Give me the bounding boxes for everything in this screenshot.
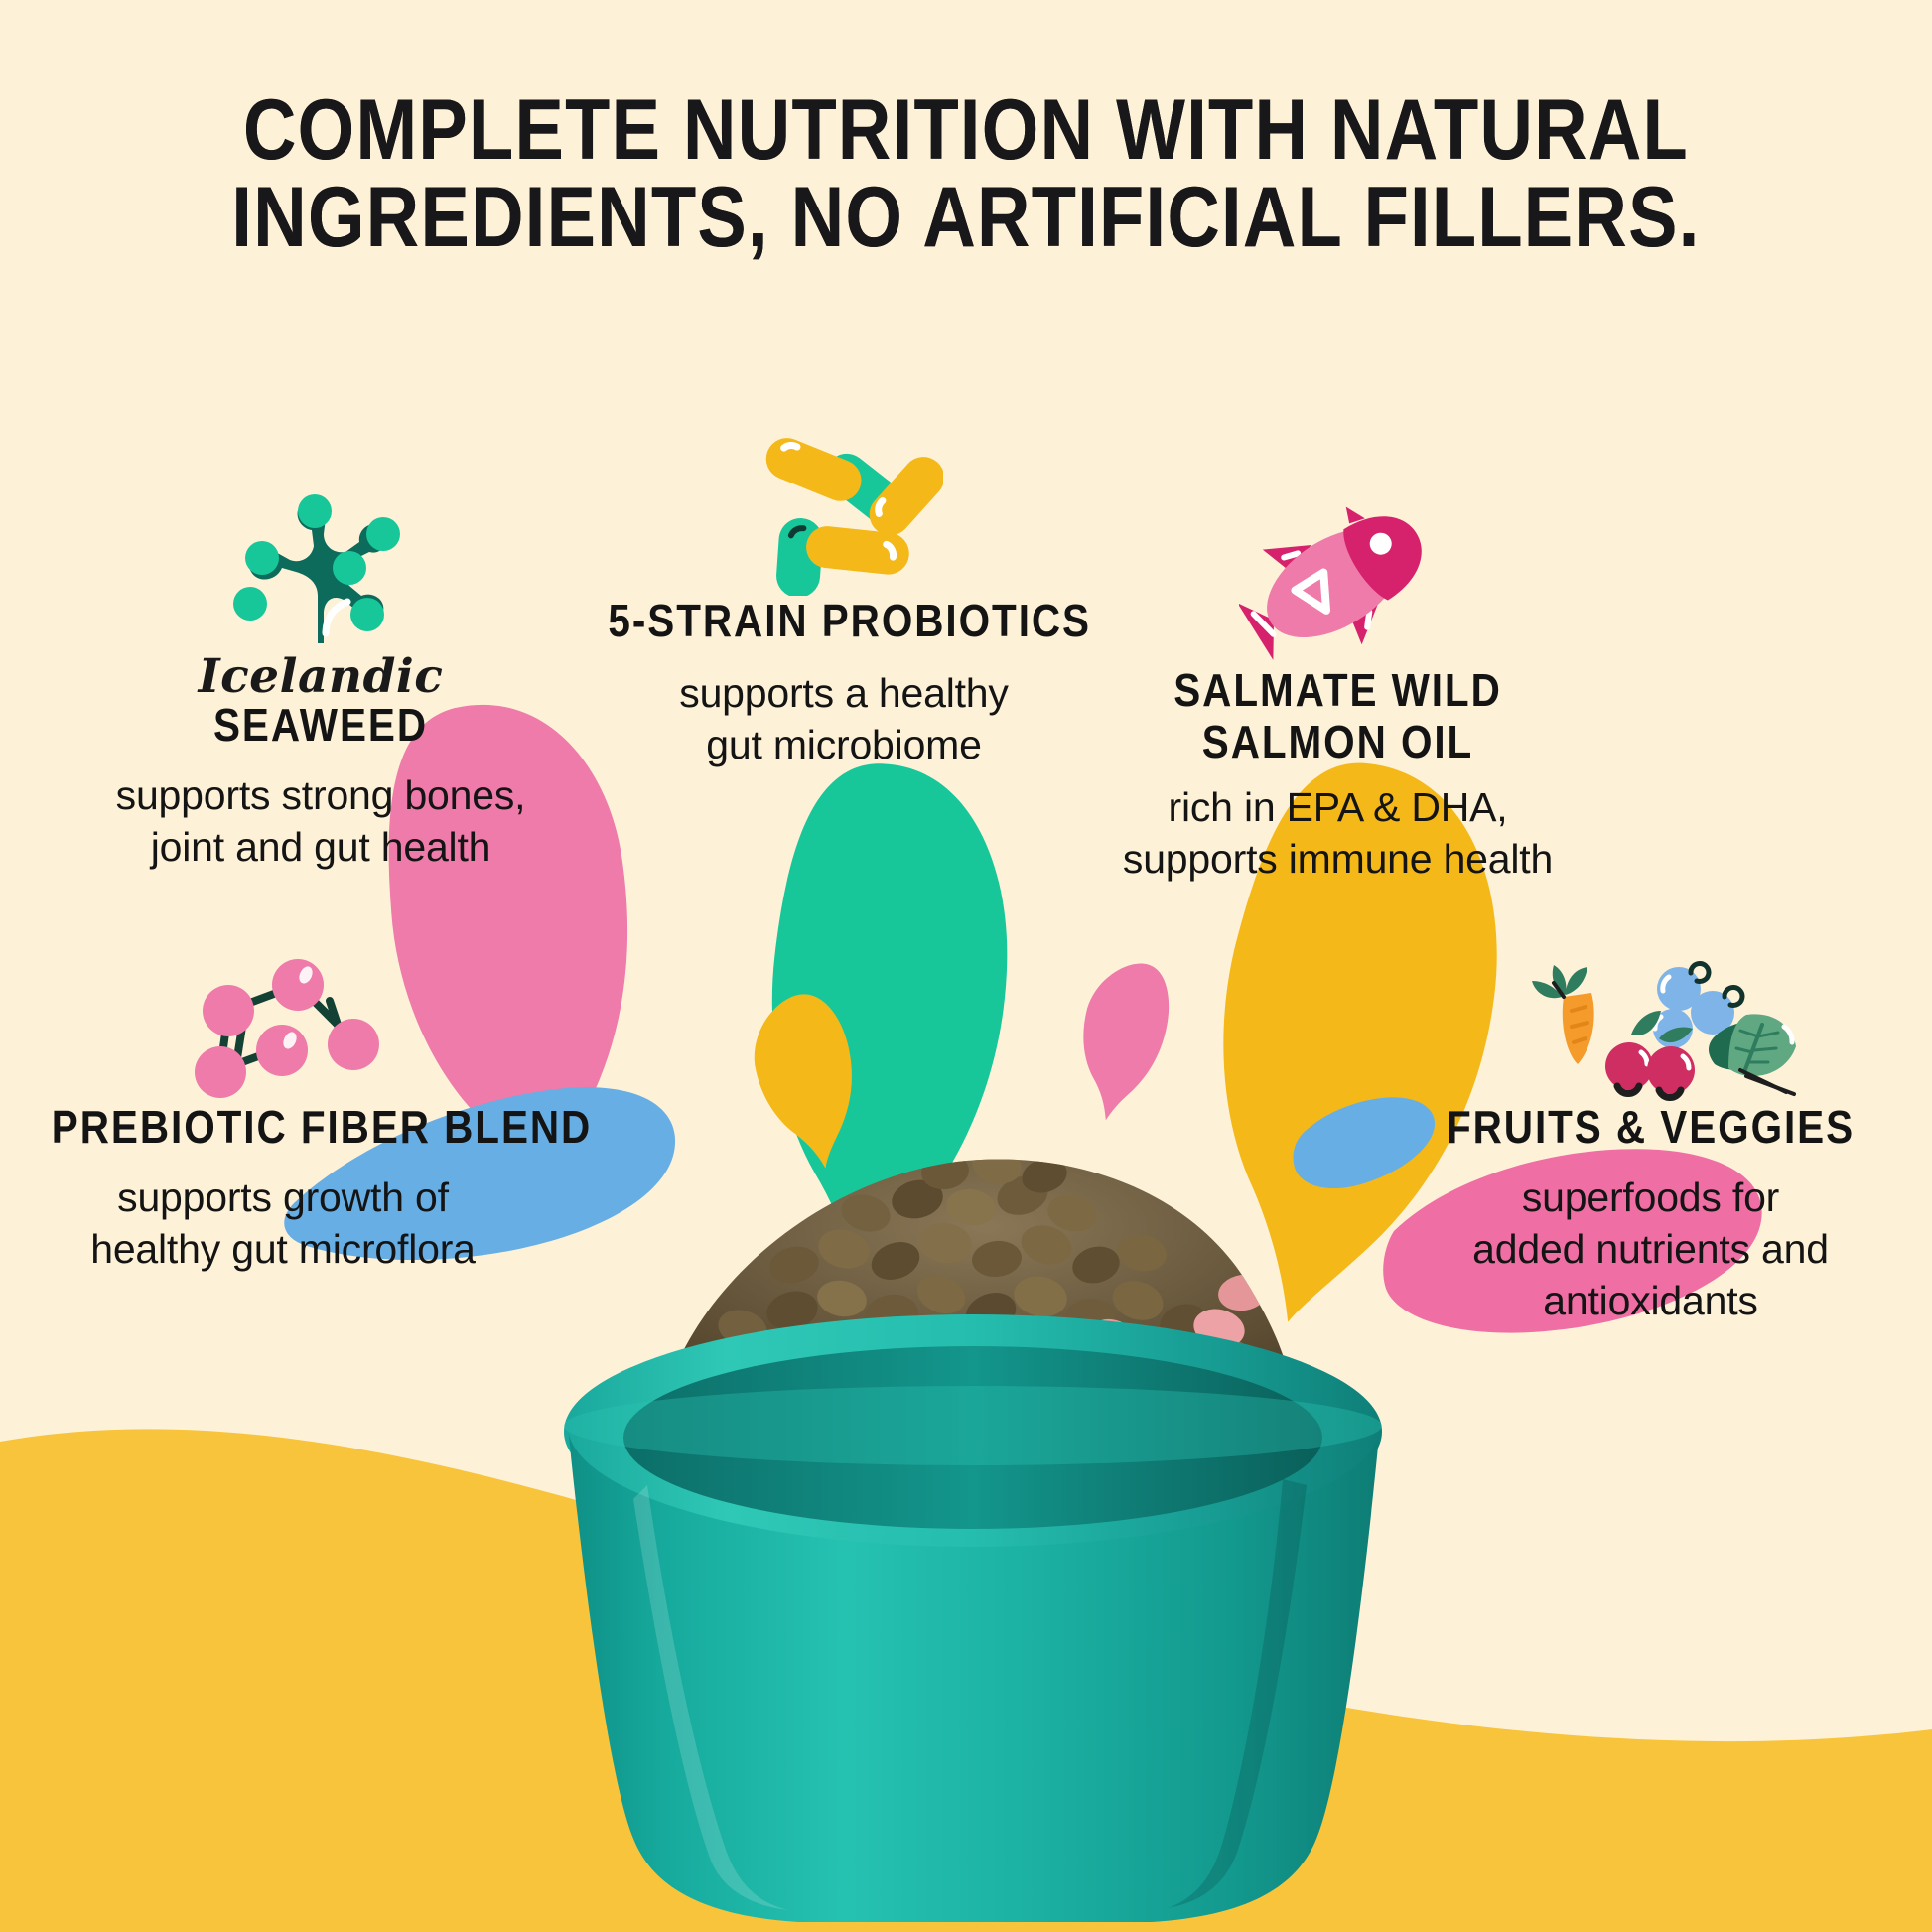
probiotics-desc-line-2: gut microbiome <box>576 719 1112 770</box>
page-headline: COMPLETE NUTRITION WITH NATURAL INGREDIE… <box>135 87 1797 261</box>
salmon-desc-line-2: supports immune health <box>1067 833 1608 885</box>
feature-seaweed: Icelandic SEAWEED supports strong bones,… <box>58 484 584 873</box>
headline-line-2: INGREDIENTS, NO ARTIFICIAL FILLERS. <box>135 175 1797 262</box>
salmon-icon-row <box>1067 496 1608 665</box>
fruits-veggies-icon <box>1502 953 1800 1102</box>
salmon-title-line-1: SALMATE WILD <box>1100 665 1577 717</box>
molecule-icon <box>169 953 397 1102</box>
dog-bowl-with-kibble <box>387 1122 1559 1932</box>
seaweed-desc-line-1: supports strong bones, <box>58 769 584 821</box>
seaweed-title: SEAWEED <box>89 700 552 752</box>
radish <box>1647 1046 1695 1098</box>
feature-salmon-oil: SALMATE WILD SALMON OIL rich in EPA & DH… <box>1067 496 1608 885</box>
poster-canvas: COMPLETE NUTRITION WITH NATURAL INGREDIE… <box>0 0 1932 1932</box>
salmon-title-line-2: SALMON OIL <box>1100 717 1577 768</box>
probiotic-capsules-icon <box>745 427 943 596</box>
product-bowl <box>387 1122 1559 1932</box>
seaweed-script-label: Icelandic <box>58 653 584 700</box>
radish <box>1605 1042 1653 1094</box>
salmon-fish-icon <box>1239 496 1438 665</box>
probiotics-title: 5-STRAIN PROBIOTICS <box>608 596 1079 647</box>
seaweed-icon <box>226 484 415 653</box>
probiotics-desc-line-1: supports a healthy <box>576 667 1112 719</box>
prebiotic-icon-row <box>20 953 546 1102</box>
probiotics-icon-row <box>576 427 1112 596</box>
fruits-icon-row <box>1380 953 1921 1102</box>
headline-line-1: COMPLETE NUTRITION WITH NATURAL <box>135 87 1797 175</box>
seaweed-tip <box>298 494 332 528</box>
seaweed-desc-line-2: joint and gut health <box>58 821 584 873</box>
seaweed-icon-row <box>58 484 584 653</box>
salmon-desc-line-1: rich in EPA & DHA, <box>1067 781 1608 833</box>
feature-probiotics: 5-STRAIN PROBIOTICS supports a healthy g… <box>576 427 1112 770</box>
